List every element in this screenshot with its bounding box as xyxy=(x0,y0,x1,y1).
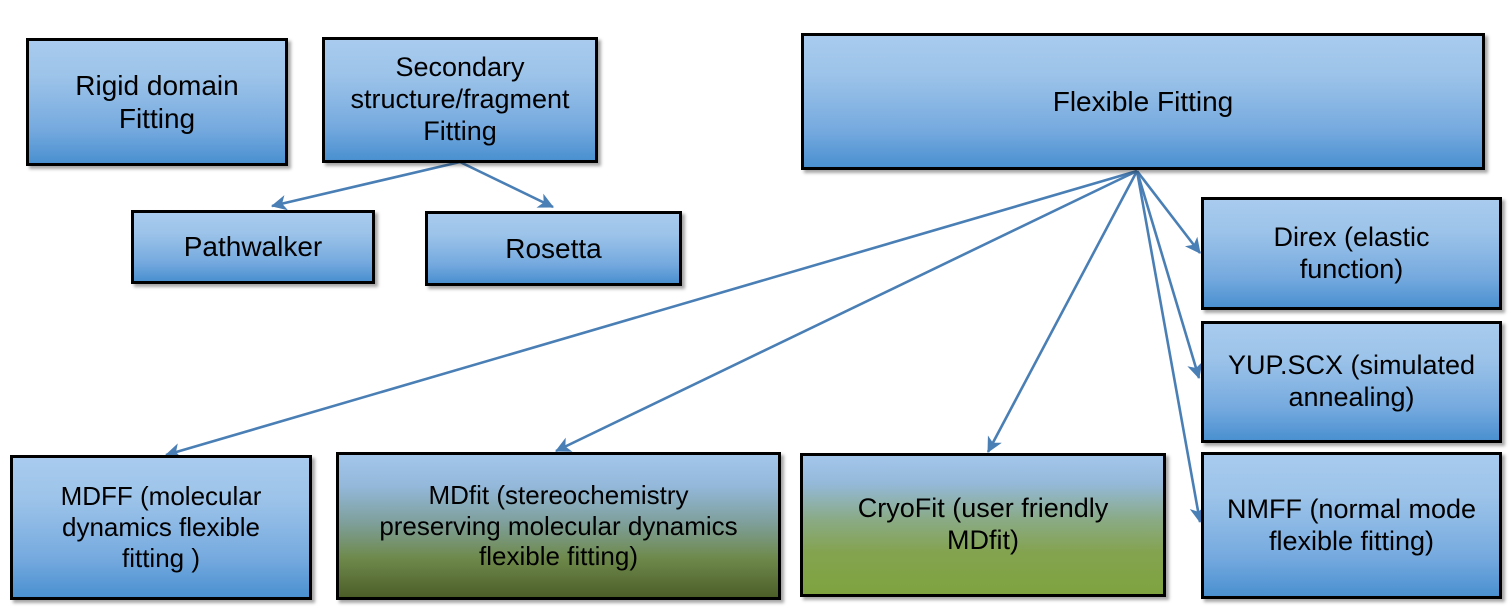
node-label: Flexible Fitting xyxy=(1053,85,1234,118)
node-label: CryoFit (user friendly MDfit) xyxy=(858,493,1109,557)
node-yup-scx[interactable]: YUP.SCX (simulated annealing) xyxy=(1201,321,1502,443)
node-label: Direx (elastic function) xyxy=(1273,222,1429,286)
node-label: MDFF (molecular dynamics flexible fittin… xyxy=(61,481,262,573)
node-mdff[interactable]: MDFF (molecular dynamics flexible fittin… xyxy=(10,455,312,600)
node-label: YUP.SCX (simulated annealing) xyxy=(1228,350,1475,414)
node-label: Rosetta xyxy=(505,232,602,265)
node-label: NMFF (normal mode flexible fitting) xyxy=(1227,494,1476,558)
edge-secondary-to-rosetta xyxy=(460,162,553,207)
node-direx[interactable]: Direx (elastic function) xyxy=(1201,197,1502,310)
node-label: Secondary structure/fragment Fitting xyxy=(350,52,569,148)
diagram-canvas: Rigid domain FittingSecondary structure/… xyxy=(0,0,1512,610)
edge-flexible-to-direx xyxy=(1137,171,1200,253)
edge-flexible-to-yupscx xyxy=(1137,171,1199,378)
node-mdfit[interactable]: MDfit (stereochemistry preserving molecu… xyxy=(336,452,781,600)
node-label: MDfit (stereochemistry preserving molecu… xyxy=(379,480,737,572)
edge-flexible-to-cryofit xyxy=(988,171,1137,452)
node-pathwalker[interactable]: Pathwalker xyxy=(131,210,375,284)
node-cryofit[interactable]: CryoFit (user friendly MDfit) xyxy=(800,453,1166,597)
node-nmff[interactable]: NMFF (normal mode flexible fitting) xyxy=(1201,452,1502,599)
node-flexible-fitting[interactable]: Flexible Fitting xyxy=(801,33,1485,170)
edge-secondary-to-pathwalker xyxy=(272,162,460,206)
node-secondary-structure-fragment-fitting[interactable]: Secondary structure/fragment Fitting xyxy=(322,37,598,163)
node-label: Pathwalker xyxy=(184,230,323,263)
node-label: Rigid domain Fitting xyxy=(75,69,238,135)
node-rigid-domain-fitting[interactable]: Rigid domain Fitting xyxy=(26,38,288,166)
node-rosetta[interactable]: Rosetta xyxy=(425,211,682,286)
